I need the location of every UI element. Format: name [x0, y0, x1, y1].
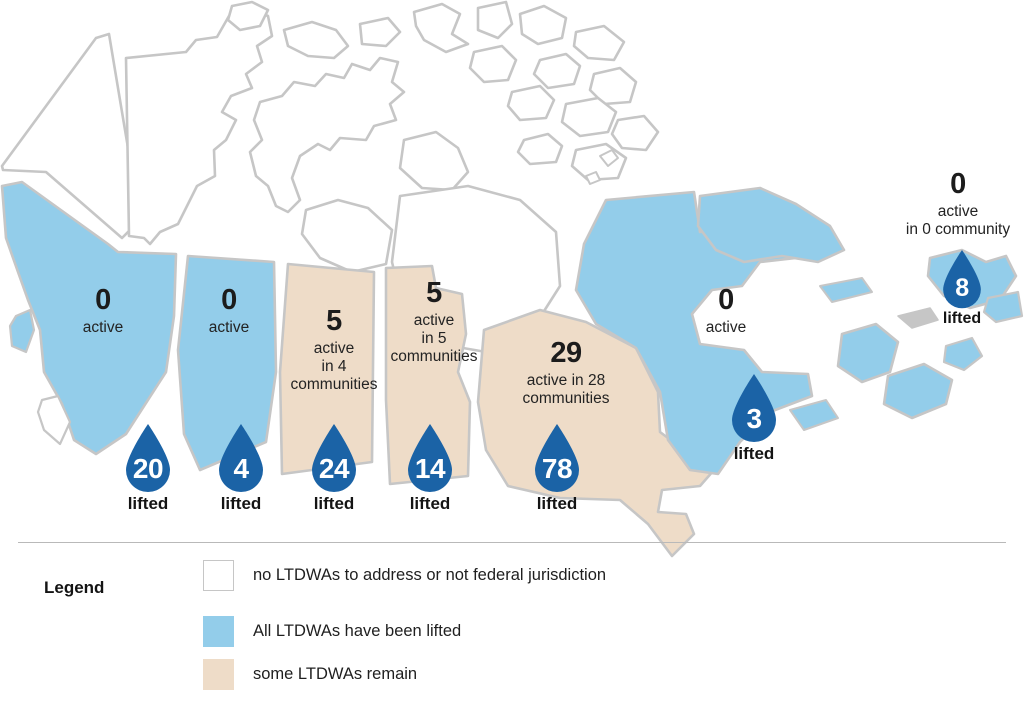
- lifted-count-british-columbia: 20: [120, 422, 176, 496]
- map-region-atlantic-sliver-2: [790, 400, 838, 430]
- legend-separator: [18, 542, 1006, 543]
- water-droplet-icon: 78: [528, 422, 586, 496]
- map-region-arctic-island-8: [470, 46, 516, 82]
- legend-swatch-none: [203, 560, 234, 591]
- legend-item-remain: some LTDWAs remain: [203, 659, 417, 690]
- lifted-caption-saskatchewan: lifted: [306, 495, 362, 512]
- droplet-marker-atlantic: 8 lifted: [938, 248, 986, 327]
- legend-label-remain: some LTDWAs remain: [253, 665, 417, 684]
- map-region-arctic-island-9: [534, 54, 580, 88]
- droplet-marker-quebec: 3 lifted: [726, 372, 782, 462]
- legend-swatch-lifted: [203, 616, 234, 647]
- map-region-north-inlet: [400, 132, 468, 190]
- water-droplet-icon: 3: [726, 372, 782, 446]
- water-droplet-icon: 20: [120, 422, 176, 496]
- legend-label-lifted: All LTDWAs have been lifted: [253, 622, 461, 641]
- map-region-prince-edward-island: [898, 308, 938, 328]
- map-region-cape-breton: [944, 338, 982, 370]
- legend-item-lifted: All LTDWAs have been lifted: [203, 616, 461, 647]
- droplet-marker-manitoba: 14 lifted: [402, 422, 458, 512]
- water-droplet-icon: 4: [213, 422, 269, 496]
- map-region-nunavut: [250, 58, 404, 212]
- droplet-marker-british-columbia: 20 lifted: [120, 422, 176, 512]
- droplet-marker-ontario: 78 lifted: [528, 422, 586, 512]
- lifted-caption-british-columbia: lifted: [120, 495, 176, 512]
- map-region-new-brunswick: [838, 324, 898, 382]
- lifted-count-quebec: 3: [726, 372, 782, 446]
- map-region-nova-scotia: [884, 364, 952, 418]
- ltdwa-map-infographic: 0 active 0 active 5 active in 4 communit…: [0, 0, 1024, 718]
- legend: Legend All LTDWAs have been lifted some …: [18, 560, 1008, 700]
- map-region-arctic-island-13: [612, 116, 658, 150]
- lifted-caption-manitoba: lifted: [402, 495, 458, 512]
- droplet-marker-alberta: 4 lifted: [213, 422, 269, 512]
- water-droplet-icon: 14: [402, 422, 458, 496]
- map-region-arctic-island-2: [284, 22, 348, 58]
- legend-swatch-remain: [203, 659, 234, 690]
- lifted-caption-ontario: lifted: [528, 495, 586, 512]
- map-region-arctic-island-3: [360, 18, 400, 46]
- lifted-count-ontario: 78: [528, 422, 586, 496]
- legend-title: Legend: [44, 578, 104, 598]
- map-region-arctic-island-4: [414, 4, 468, 52]
- map-region-northwest-territories: [126, 8, 272, 244]
- map-region-arctic-island-14: [518, 134, 562, 164]
- map-region-arctic-island-15: [572, 144, 626, 180]
- lifted-count-manitoba: 14: [402, 422, 458, 496]
- map-region-nunavut-lower: [302, 200, 392, 272]
- legend-item-none: no LTDWAs to address or not federal juri…: [203, 560, 606, 591]
- water-droplet-icon: 24: [306, 422, 362, 496]
- map-region-labrador: [698, 188, 844, 262]
- map-region-arctic-island-6: [520, 6, 566, 44]
- map-region-arctic-island-7: [574, 26, 624, 60]
- map-region-atlantic-sliver-1: [820, 278, 872, 302]
- legend-label-none: no LTDWAs to address or not federal juri…: [253, 566, 606, 585]
- water-droplet-icon: 8: [938, 248, 986, 312]
- lifted-caption-quebec: lifted: [726, 445, 782, 462]
- lifted-count-saskatchewan: 24: [306, 422, 362, 496]
- map-region-arctic-island-5: [478, 2, 512, 38]
- lifted-caption-alberta: lifted: [213, 495, 269, 512]
- droplet-marker-saskatchewan: 24 lifted: [306, 422, 362, 512]
- lifted-caption-atlantic: lifted: [938, 311, 986, 327]
- map-region-arctic-island-11: [508, 86, 554, 120]
- map-region-bc-island-1: [10, 310, 34, 352]
- lifted-count-alberta: 4: [213, 422, 269, 496]
- lifted-count-atlantic: 8: [938, 248, 986, 312]
